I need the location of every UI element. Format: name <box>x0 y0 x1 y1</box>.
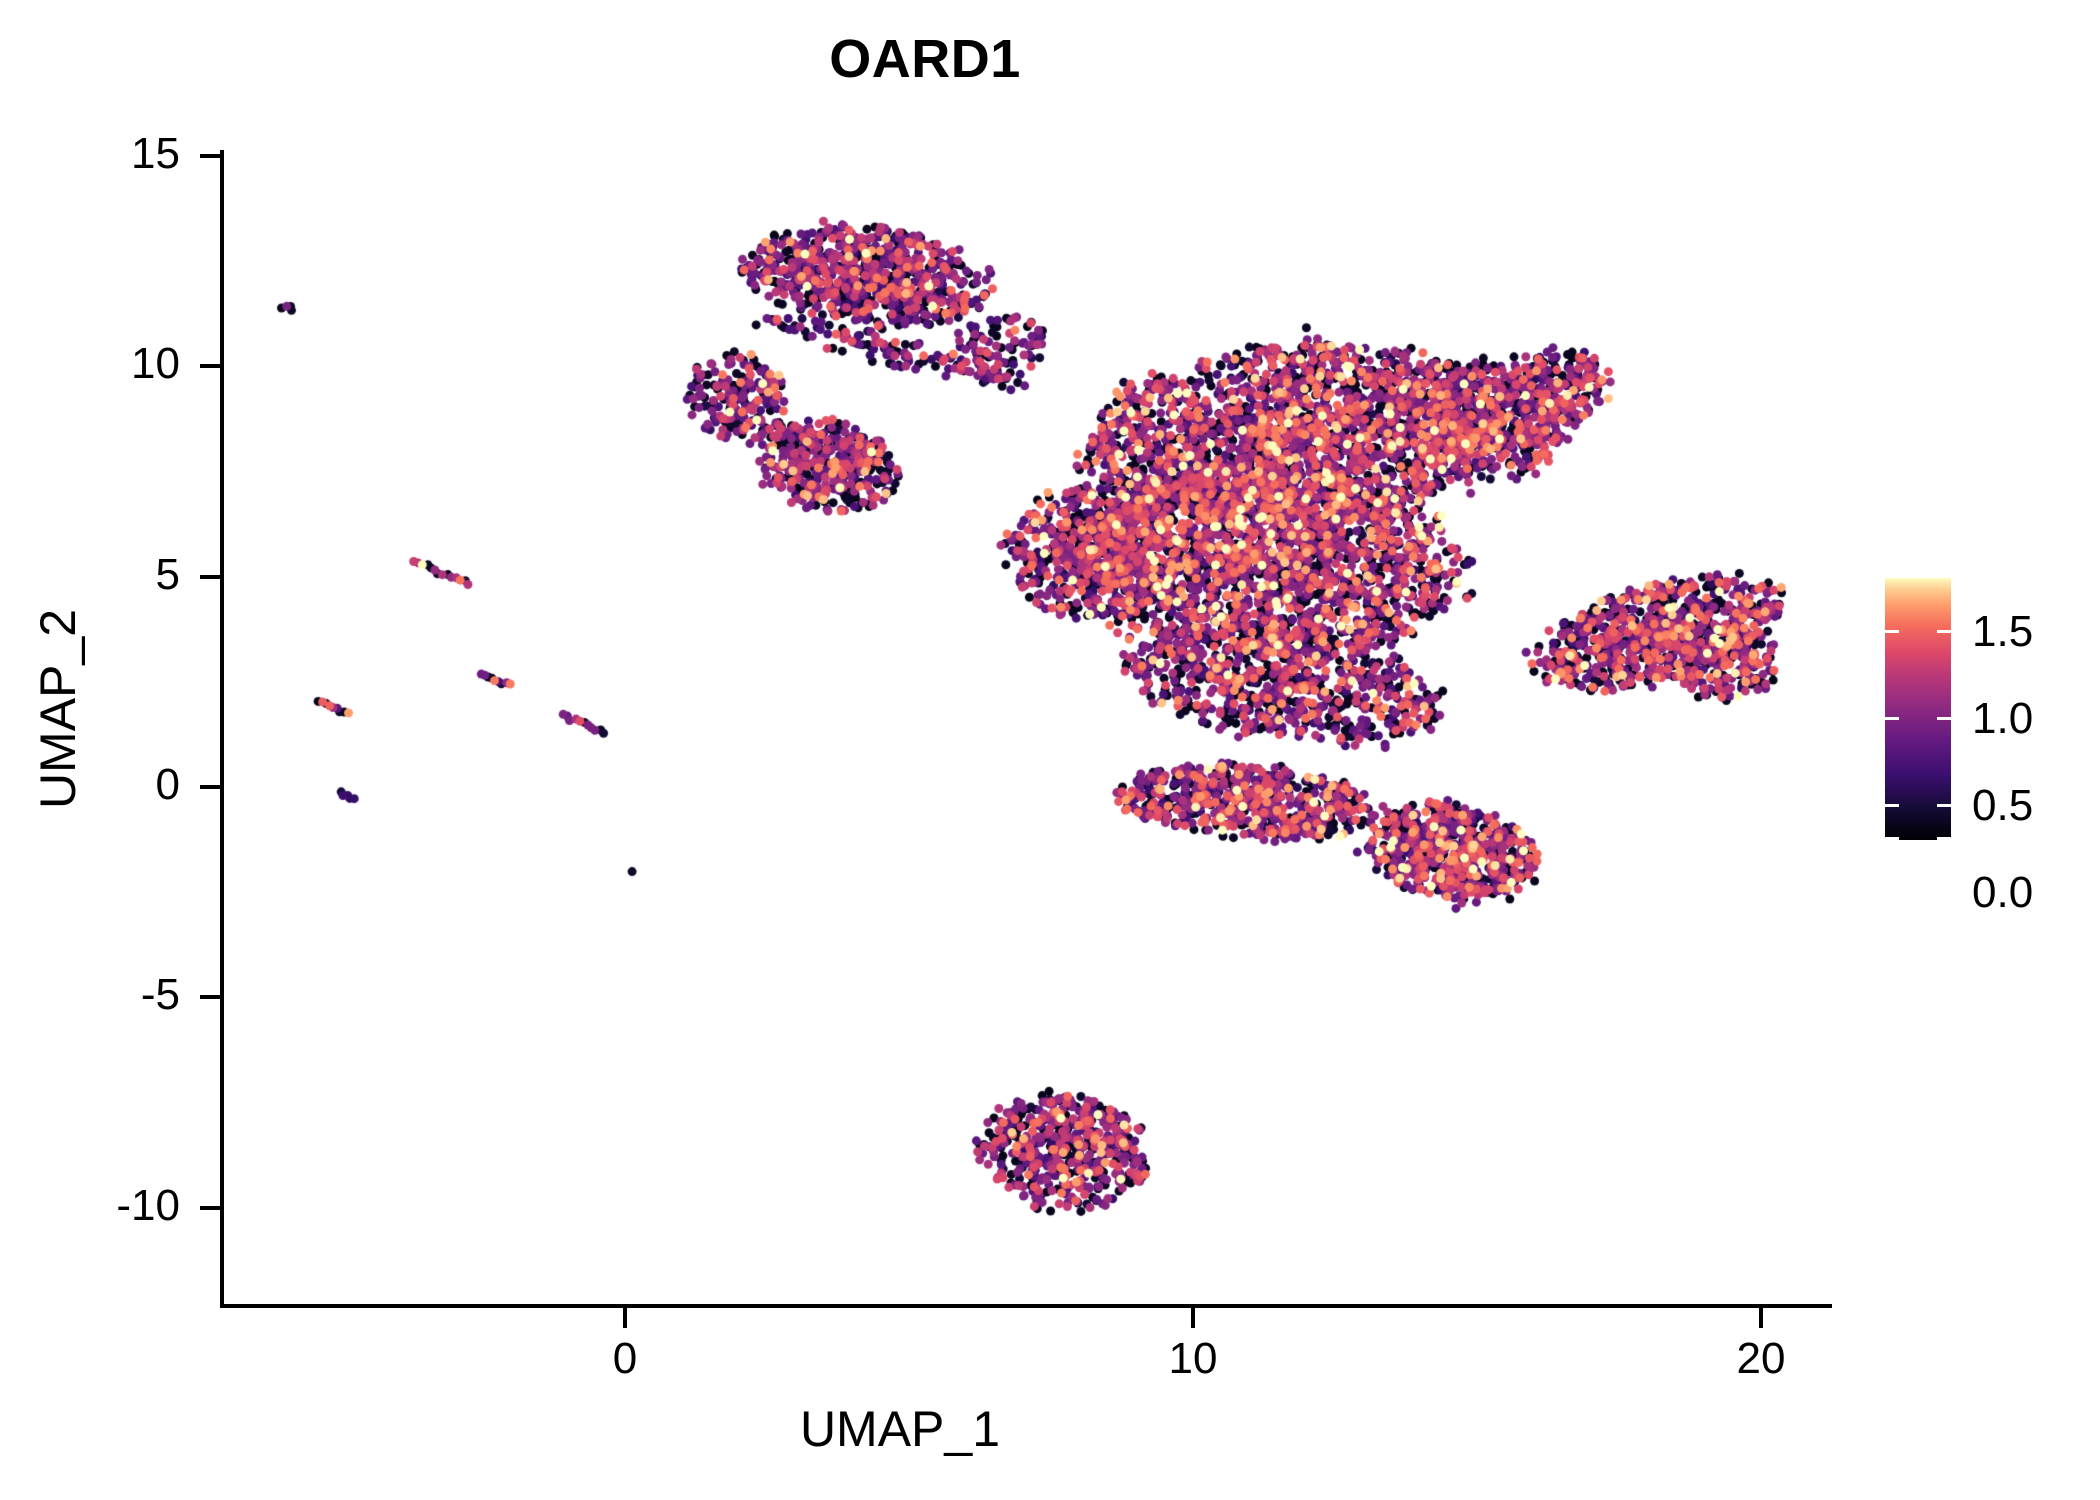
x-tick-label: 10 <box>1113 1334 1273 1384</box>
y-tick-mark <box>200 575 220 579</box>
colorbar-tick <box>1937 837 1951 840</box>
y-axis-line <box>220 150 224 1308</box>
colorbar-tick <box>1885 837 1899 840</box>
y-tick-mark <box>200 785 220 789</box>
x-tick-label: 0 <box>545 1334 705 1384</box>
x-tick-mark <box>1759 1308 1763 1328</box>
y-tick-label: 15 <box>30 129 180 179</box>
x-tick-mark <box>1191 1308 1195 1328</box>
y-tick-label: -10 <box>30 1181 180 1231</box>
x-axis-title: UMAP_1 <box>500 1400 1300 1458</box>
scatter-plot-canvas <box>0 0 2100 1500</box>
colorbar-tick <box>1885 630 1899 633</box>
colorbar-tick <box>1885 804 1899 807</box>
y-axis-title: UMAP_2 <box>29 329 87 1089</box>
x-axis-line <box>220 1304 1832 1308</box>
colorbar-gradient <box>1885 578 1951 840</box>
colorbar-tick <box>1937 630 1951 633</box>
colorbar-label-0-5: 0.5 <box>1972 781 2033 831</box>
y-tick-mark <box>200 364 220 368</box>
colorbar-tick <box>1937 804 1951 807</box>
y-tick-mark <box>200 995 220 999</box>
y-tick-mark <box>200 1206 220 1210</box>
x-tick-label: 20 <box>1681 1334 1841 1384</box>
colorbar-label-1-5: 1.5 <box>1972 607 2033 657</box>
colorbar-label-1-0: 1.0 <box>1972 694 2033 744</box>
x-tick-mark <box>623 1308 627 1328</box>
colorbar-tick <box>1885 717 1899 720</box>
colorbar-tick <box>1937 717 1951 720</box>
y-tick-mark <box>200 154 220 158</box>
colorbar-label-0-0: 0.0 <box>1972 868 2033 918</box>
umap-feature-plot: OARD1 15 10 5 0 -5 -10 0 10 20 UMAP_2 UM… <box>0 0 2100 1500</box>
